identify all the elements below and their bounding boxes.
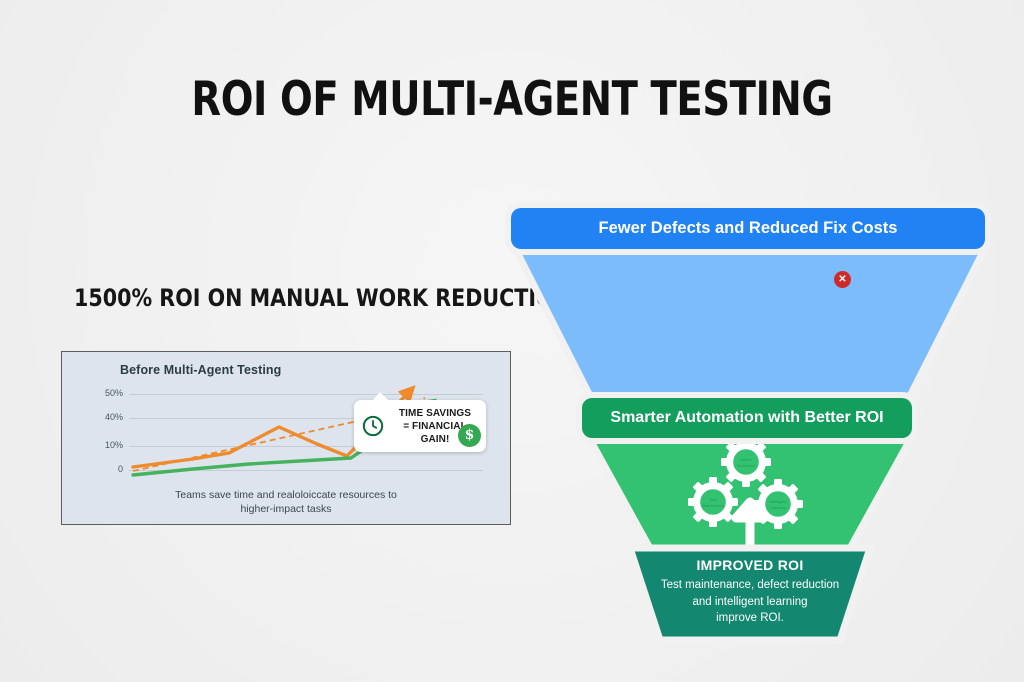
callout-tail — [372, 392, 389, 401]
improved-roi-title: IMPROVED ROI — [500, 557, 1000, 573]
improved-roi-description: Test maintenance, defect reduction and i… — [610, 577, 890, 627]
roi-funnel: Fewer Defects and Reduced Fix Costs Manu… — [500, 200, 1000, 650]
gear-icon — [688, 477, 738, 527]
gear-label-line-1: Test — [709, 498, 717, 502]
dollar-coin-icon: $ — [458, 424, 481, 447]
funnel-middle-header-label: Smarter Automation with Better ROI — [610, 409, 883, 427]
gear-label-line-2: Reduction — [737, 464, 755, 468]
left-panel-subtitle: 1500% ROI ON MANUAL WORK REDUCTION — [74, 284, 571, 312]
funnel-middle-header: Smarter Automation with Better ROI — [582, 398, 912, 438]
improved-roi-line-1: Test maintenance, defect reduction — [661, 579, 839, 591]
improved-roi-line-2: and intelligent learning — [692, 596, 807, 608]
page-title: ROI OF MULTI-AGENT TESTING — [92, 72, 932, 127]
gear-defect-reduction: Defect Reduction — [721, 437, 771, 487]
gear-icon — [721, 437, 771, 487]
gear-label-line-2: Learning — [770, 506, 785, 510]
chart-title: Before Multi-Agent Testing — [120, 363, 281, 377]
close-icon: ✕ — [834, 271, 851, 288]
funnel-top-shape — [514, 246, 986, 396]
chart-caption: Teams save time and realoloiccate resour… — [112, 488, 460, 516]
chart-caption-line-2: higher-impact tasks — [240, 503, 331, 515]
gear-label-line-2: Maintenance — [702, 504, 724, 508]
funnel-top-header: Fewer Defects and Reduced Fix Costs — [511, 208, 985, 249]
chart-caption-line-1: Teams save time and realoloiccate resour… — [175, 489, 397, 501]
gear-intelligent-learning: Intelligent Learning — [753, 479, 803, 529]
funnel-top-header-label: Fewer Defects and Reduced Fix Costs — [599, 219, 898, 238]
callout-line-3: GAIN! — [421, 434, 450, 445]
gear-label-line-1: Defect — [741, 458, 753, 462]
gear-label-line-1: Intelligent — [770, 500, 788, 504]
callout-line-2: = FINANCIAL — [403, 421, 467, 432]
gear-test-maintenance: Test Maintenance — [688, 477, 738, 527]
callout-line-1: TIME SAVINGS — [399, 408, 471, 419]
infographic-canvas: ROI OF MULTI-AGENT TESTING 1500% ROI ON … — [0, 0, 1024, 682]
clock-icon — [362, 415, 384, 437]
time-savings-callout: TIME SAVINGS = FINANCIAL GAIN! $ — [354, 400, 486, 452]
gear-icon — [753, 479, 803, 529]
improved-roi-line-3: improve ROI. — [716, 612, 784, 624]
